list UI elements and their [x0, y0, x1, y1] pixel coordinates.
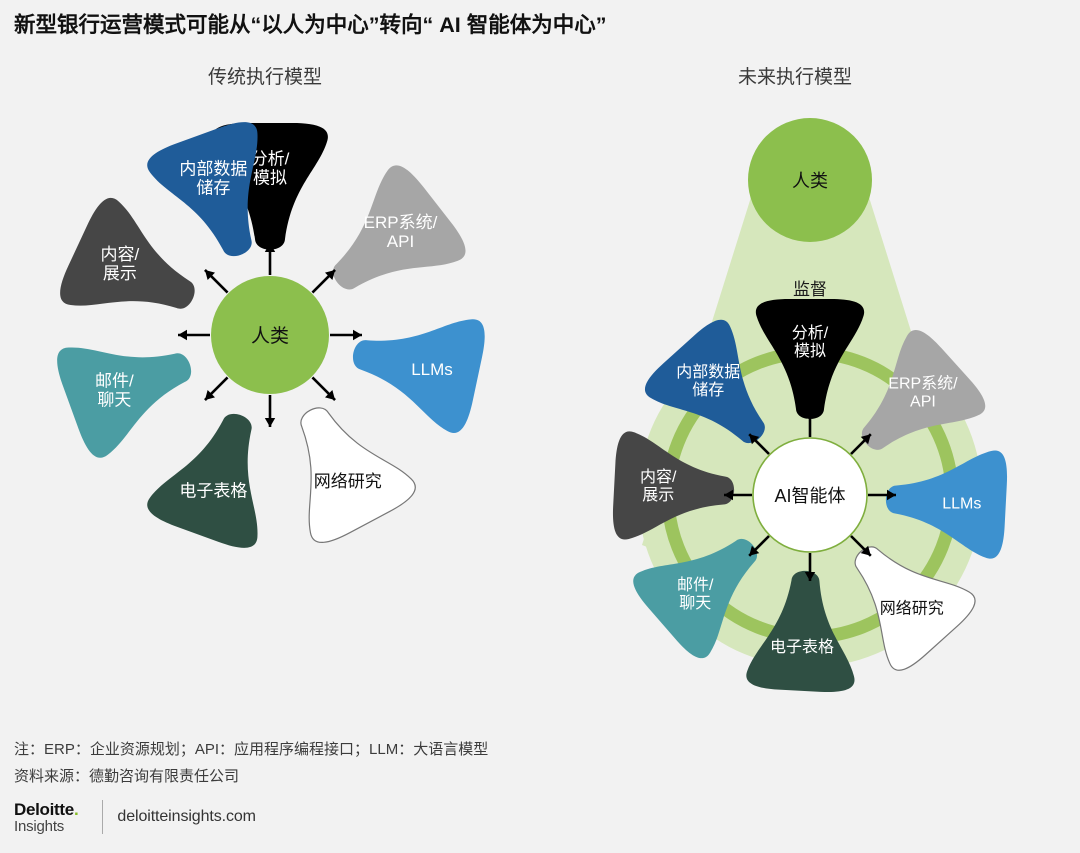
- petal-shape-web-research: [259, 383, 421, 549]
- petal-label-analysis-simulation: 分析/模拟: [792, 324, 829, 360]
- brand-dot: .: [74, 800, 78, 819]
- left-panel-title: 传统执行模型: [115, 62, 415, 89]
- petal-label-spreadsheets: 电子表格: [179, 481, 247, 500]
- note-abbreviations: 注：ERP：企业资源规划；API：应用程序编程接口；LLM：大语言模型: [14, 738, 488, 759]
- petal-label-web-research: 网络研究: [314, 472, 382, 491]
- right-panel-title: 未来执行模型: [645, 62, 945, 89]
- brand-insights-text: Insights: [14, 819, 78, 834]
- center-label-ai-agent: AI智能体: [774, 486, 845, 506]
- traditional-execution-model-diagram: 分析/模拟ERP系统/APILLMs网络研究电子表格邮件/聊天内容/展示内部数据…: [20, 95, 520, 580]
- human-node-label: 人类: [792, 171, 828, 191]
- petal-label-llms: LLMs: [411, 360, 453, 379]
- supervision-label: 监督: [793, 280, 827, 299]
- petal-label-web-research: 网络研究: [880, 598, 944, 617]
- deloitte-insights-logo: Deloitte. Insights: [14, 801, 78, 834]
- petal-label-content-presentation: 内容/展示: [640, 468, 677, 504]
- future-execution-model-diagram: 分析/模拟ERP系统/APILLMs网络研究电子表格邮件/聊天内容/展示内部数据…: [560, 95, 1060, 720]
- petal-label-llms: LLMs: [942, 495, 981, 512]
- petal-web-research[interactable]: [259, 383, 421, 549]
- brand-divider: [102, 800, 103, 834]
- petal-label-spreadsheets: 电子表格: [770, 638, 834, 656]
- petal-label-content-presentation: 内容/展示: [101, 245, 140, 283]
- right-diagram-svg: 分析/模拟ERP系统/APILLMs网络研究电子表格邮件/聊天内容/展示内部数据…: [560, 95, 1060, 715]
- page-title: 新型银行运营模式可能从“以人为中心”转向“ AI 智能体为中心”: [14, 8, 606, 39]
- brand-url[interactable]: deloitteinsights.com: [117, 808, 256, 826]
- petal-label-email-chat: 邮件/聊天: [95, 372, 134, 410]
- brand-bar: Deloitte. Insights deloitteinsights.com: [14, 800, 256, 834]
- petal-label-analysis-simulation: 分析/模拟: [251, 149, 290, 187]
- note-source: 资料来源：德勤咨询有限责任公司: [14, 765, 239, 786]
- brand-deloitte-text: Deloitte.: [14, 801, 78, 818]
- center-label-human: 人类: [251, 325, 289, 347]
- left-diagram-svg: 分析/模拟ERP系统/APILLMs网络研究电子表格邮件/聊天内容/展示内部数据…: [20, 95, 520, 575]
- petal-label-email-chat: 邮件/聊天: [677, 576, 714, 612]
